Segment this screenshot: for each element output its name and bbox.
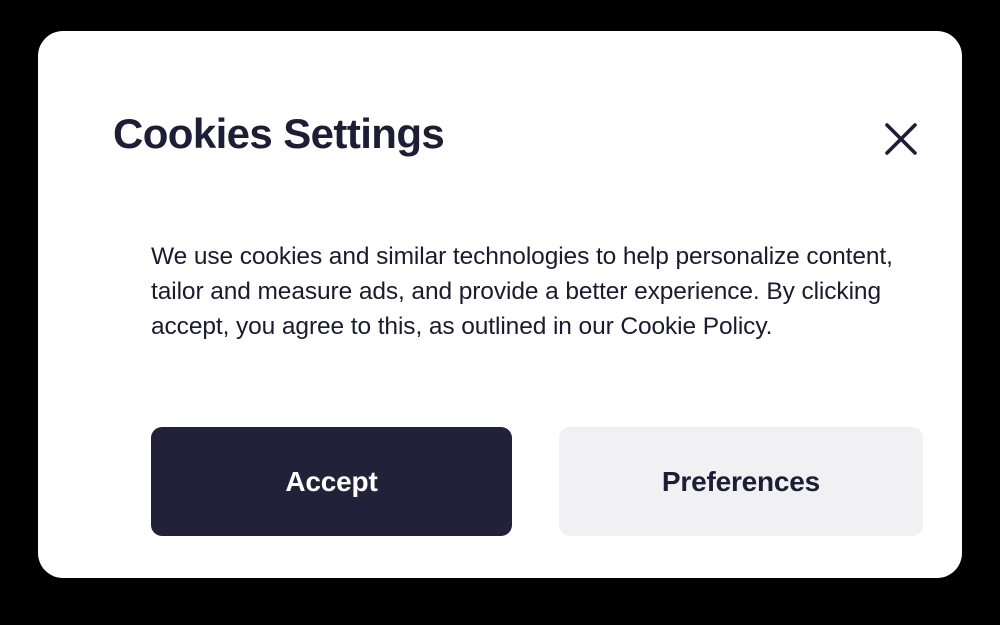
close-icon	[882, 120, 920, 158]
close-button[interactable]	[879, 117, 923, 161]
cookies-settings-dialog: Cookies Settings We use cookies and simi…	[38, 31, 962, 578]
page-background: Cookies Settings We use cookies and simi…	[0, 0, 1000, 625]
preferences-button[interactable]: Preferences	[559, 427, 923, 536]
page-title: Cookies Settings	[113, 106, 444, 162]
dialog-header: Cookies Settings	[113, 106, 923, 176]
dialog-body-text: We use cookies and similar technologies …	[151, 239, 941, 344]
dialog-actions: Accept Preferences	[151, 427, 923, 536]
accept-button[interactable]: Accept	[151, 427, 512, 536]
